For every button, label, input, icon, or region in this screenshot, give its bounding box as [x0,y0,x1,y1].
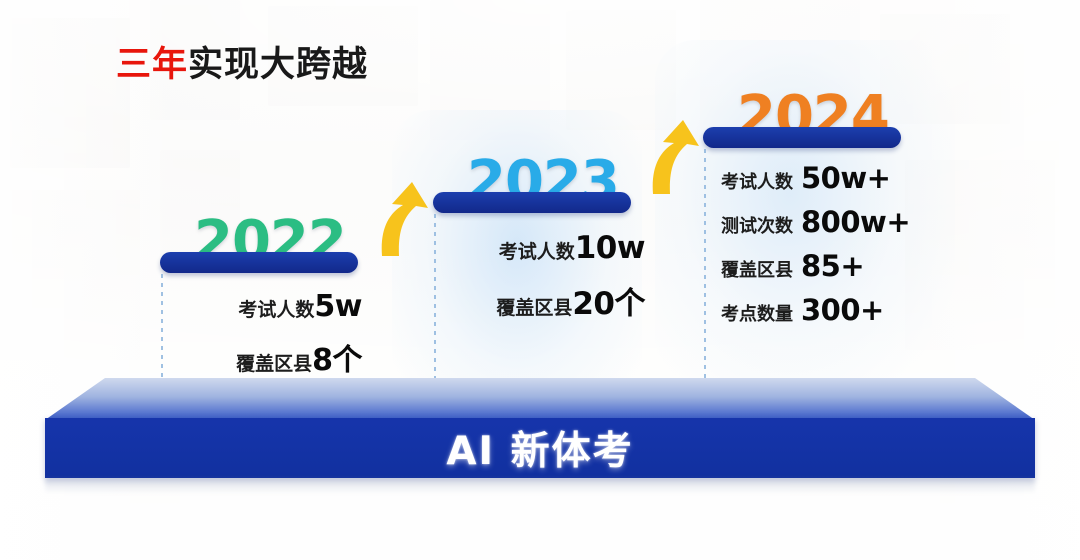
metric-row: 覆盖区县 85+ [721,249,921,283]
page-title: 三年实现大跨越 [116,47,368,82]
metric-label: 考试人数 [721,168,793,194]
metric-row: 考试人数 5w [176,289,362,324]
metric-value: 20个 [572,278,645,323]
step-metrics-2022: 考试人数 5w 覆盖区县 8个 [176,289,362,379]
platform-title: AI 新体考 [45,418,1035,478]
metric-label: 覆盖区县 [496,293,572,320]
metric-row: 考试人数 50w+ [721,161,921,195]
metric-value: 50w+ [801,161,890,195]
drop-line-2023 [434,214,436,392]
growth-arrow-2 [643,116,707,196]
metric-row: 考试人数 10w [455,230,645,266]
metric-value: 300+ [801,293,884,327]
step-bar-2022 [160,252,358,273]
metric-label: 考试人数 [499,237,575,264]
metric-value: 5w [314,289,362,324]
metric-label: 覆盖区县 [236,349,312,376]
platform-base: AI 新体考 [0,378,1080,518]
drop-line-2024 [704,149,706,392]
metric-value: 800w+ [801,205,910,239]
step-metrics-2024: 考试人数 50w+ 测试次数 800w+ 覆盖区县 85+ 考点数量 300+ [721,161,921,327]
page-title-rest: 实现大跨越 [188,45,368,84]
metric-label: 测试次数 [721,212,793,238]
platform-top-face [0,378,1080,420]
metric-value: 85+ [801,249,864,283]
metric-label: 覆盖区县 [721,256,793,282]
metric-value: 8个 [312,335,362,379]
platform-front-face: AI 新体考 [45,418,1035,478]
metric-row: 覆盖区县 20个 [455,278,645,323]
step-bar-2023 [433,192,631,213]
step-metrics-2023: 考试人数 10w 覆盖区县 20个 [455,230,645,323]
growth-arrow-1 [372,178,436,258]
metric-row: 测试次数 800w+ [721,205,921,239]
metric-label: 考点数量 [721,300,793,326]
infographic-stage: 三年实现大跨越 2022 考试人数 5w 覆盖区县 8个 2023 考试人数 [0,0,1080,560]
step-bar-2024 [703,127,901,148]
metric-label: 考试人数 [238,295,314,322]
metric-row: 覆盖区县 8个 [176,335,362,379]
drop-line-2022 [161,274,163,392]
platform-shadow [45,478,1035,494]
page-title-highlight: 三年 [116,45,188,84]
metric-value: 10w [575,230,645,266]
metric-row: 考点数量 300+ [721,293,921,327]
